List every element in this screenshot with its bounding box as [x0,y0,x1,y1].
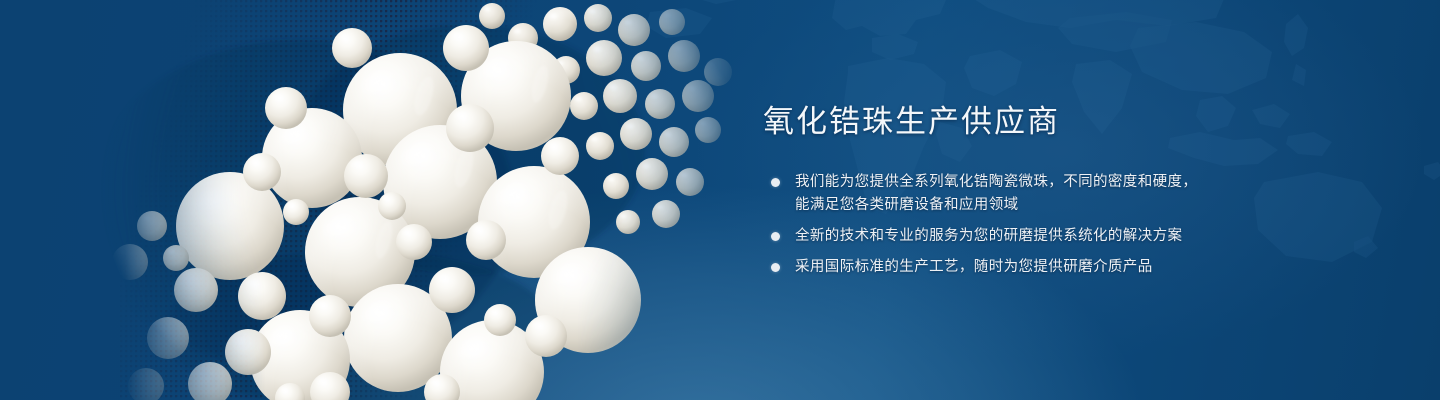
banner-copy: 氧化锆珠生产供应商 我们能为您提供全系列氧化锆陶瓷微珠，不同的密度和硬度， 能满… [763,104,1383,287]
bullet-line: 全新的技术和专业的服务为您的研磨提供系统化的解决方案 [795,225,1383,248]
bullet-dot-icon [771,232,780,241]
bullet-line: 采用国际标准的生产工艺，随时为您提供研磨介质产品 [795,256,1383,279]
list-item: 全新的技术和专业的服务为您的研磨提供系统化的解决方案 [763,225,1383,248]
bullet-line: 能满足您各类研磨设备和应用领域 [795,194,1383,217]
zirconia-beads-photo [0,0,780,400]
bullet-dot-icon [771,178,780,187]
bullet-dot-icon [771,263,780,272]
halftone-fade-pattern [120,0,540,400]
list-item: 我们能为您提供全系列氧化锆陶瓷微珠，不同的密度和硬度， 能满足您各类研磨设备和应… [763,171,1383,217]
list-item: 采用国际标准的生产工艺，随时为您提供研磨介质产品 [763,256,1383,279]
page-title: 氧化锆珠生产供应商 [763,104,1383,141]
hero-banner: 氧化锆珠生产供应商 我们能为您提供全系列氧化锆陶瓷微珠，不同的密度和硬度， 能满… [0,0,1440,400]
feature-bullet-list: 我们能为您提供全系列氧化锆陶瓷微珠，不同的密度和硬度， 能满足您各类研磨设备和应… [763,171,1383,279]
bullet-line: 我们能为您提供全系列氧化锆陶瓷微珠，不同的密度和硬度， [795,171,1383,194]
